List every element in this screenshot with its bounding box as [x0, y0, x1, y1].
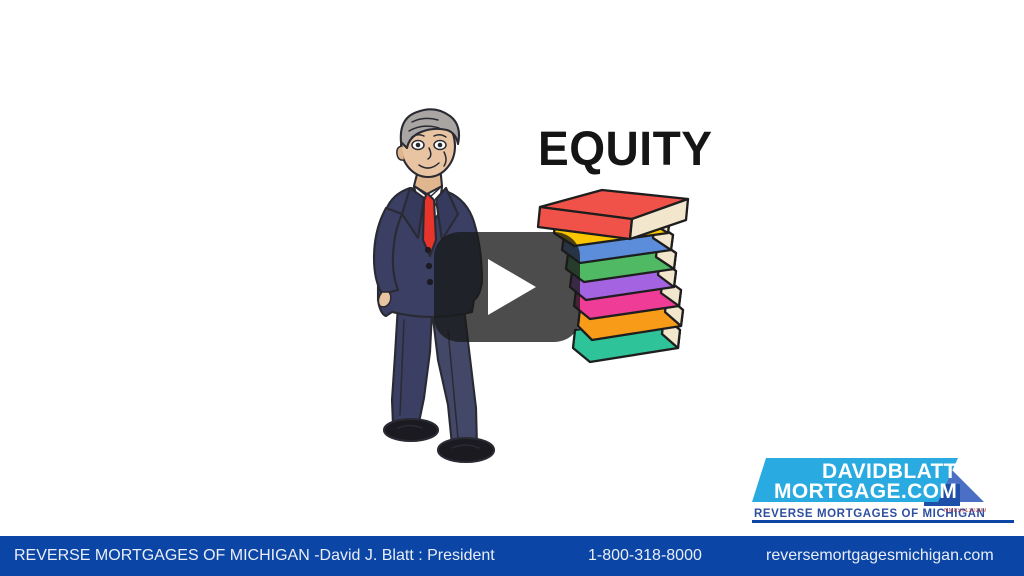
company-label: REVERSE MORTGAGES OF MICHIGAN -David J. … — [14, 547, 495, 565]
bottom-info-bar: REVERSE MORTGAGES OF MICHIGAN -David J. … — [0, 536, 1024, 576]
play-triangle-icon — [488, 259, 536, 315]
equity-caption: EQUITY — [538, 126, 712, 174]
logo-nmls-id: NMLS#130299 — [944, 508, 986, 514]
website-url[interactable]: reversemortgagesmichigan.com — [766, 547, 994, 565]
video-player: .ol { stroke:#2a2a33; stroke-width:2.1; … — [0, 0, 1024, 576]
brand-logo[interactable]: DAVIDBLATT MORTGAGE.COM REVERSE MORTGAGE… — [752, 452, 1014, 532]
video-canvas[interactable]: .ol { stroke:#2a2a33; stroke-width:2.1; … — [0, 0, 1024, 536]
play-button[interactable] — [434, 232, 580, 342]
logo-line2: MORTGAGE.COM — [774, 480, 957, 504]
phone-number[interactable]: 1-800-318-8000 — [588, 547, 702, 565]
logo-divider — [752, 520, 1014, 523]
